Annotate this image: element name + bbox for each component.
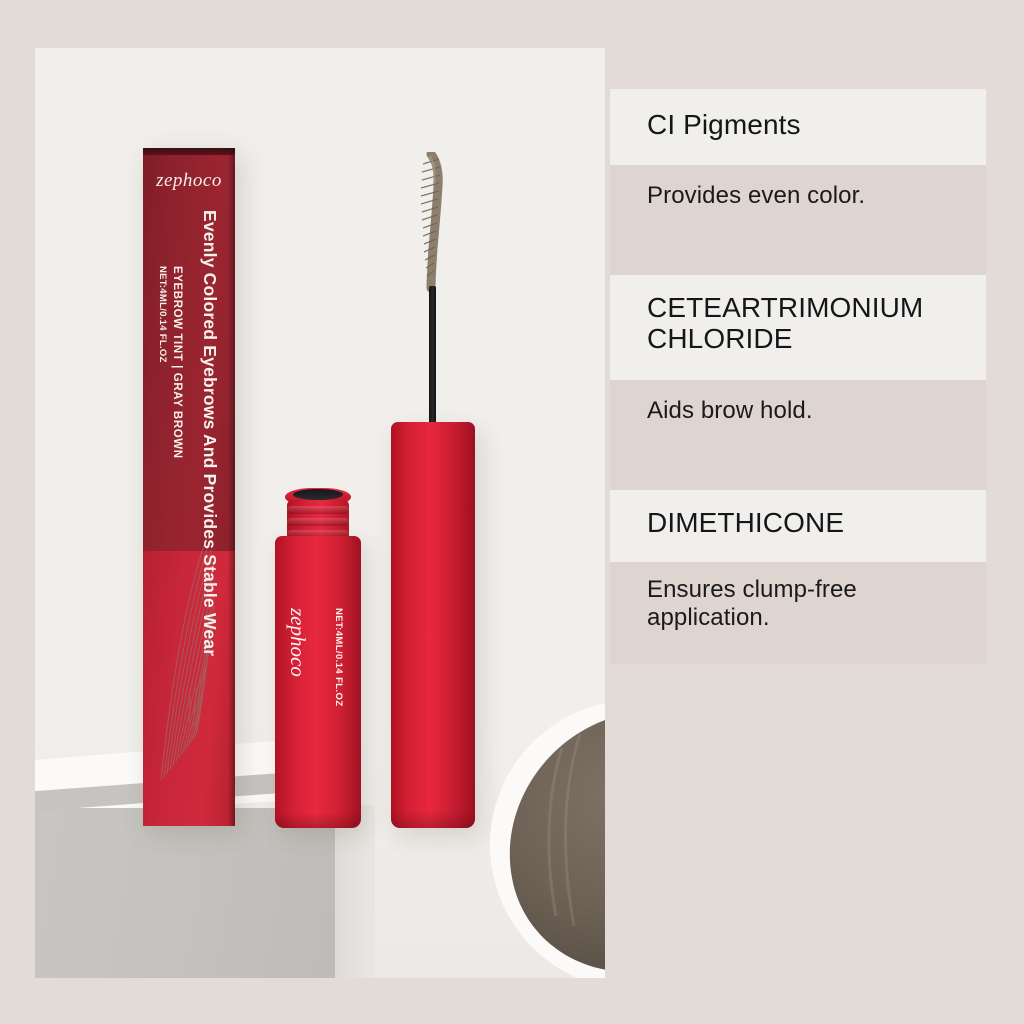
product-photo-panel: zephoco Evenly Colored Eyebrows And Prov… (35, 48, 605, 978)
spiral-brush-icon (408, 152, 454, 292)
texture-swatch (490, 700, 605, 978)
ingredient-benefit-3: Ensures clump-free application. (610, 562, 986, 633)
carton-net-content: NET:4ML/0.14 FL.OZ (157, 266, 168, 363)
ingredient-benefit-band-3: Ensures clump-free application. (610, 562, 986, 664)
product-infographic: zephoco Evenly Colored Eyebrows And Prov… (0, 0, 1024, 1024)
ingredient-benefit-1: Provides even color. (610, 165, 986, 210)
product-carton-box: zephoco Evenly Colored Eyebrows And Prov… (143, 148, 235, 826)
tube-cap (391, 422, 475, 828)
carton-top-edge (143, 148, 235, 155)
wand-stem (429, 286, 436, 426)
pedestal-front-face (35, 808, 355, 978)
ingredient-name-band-1: CI Pigments (610, 89, 986, 165)
carton-variant-label: EYEBROW TINT | GRAY BROWN (171, 266, 183, 459)
ingredient-benefit-band-1: Provides even color. (610, 165, 986, 275)
tube-thread-ring (287, 518, 349, 526)
carton-brand-logo: zephoco (149, 170, 229, 192)
tube-body (275, 536, 361, 828)
ingredient-name-band-2: CETEARTRIMONIUM CHLORIDE (610, 275, 986, 380)
tube-brand-logo: zephoco (285, 608, 310, 677)
ingredient-name-1: CI Pigments (610, 89, 986, 140)
ingredient-name-2: CETEARTRIMONIUM CHLORIDE (610, 275, 986, 355)
cream-swatch-blob (504, 712, 605, 978)
ingredient-benefit-band-2: Aids brow hold. (610, 380, 986, 490)
tube-net-content: NET:4ML/0.14 FL.OZ (333, 608, 344, 707)
ingredient-name-band-3: DIMETHICONE (610, 490, 986, 562)
tube-opening (293, 489, 343, 500)
ingredient-name-3: DIMETHICONE (610, 490, 986, 538)
tube-thread-ring (287, 506, 349, 514)
ingredient-benefit-2: Aids brow hold. (610, 380, 986, 425)
carton-tagline: Evenly Colored Eyebrows And Provides Sta… (199, 210, 220, 810)
carton-right-shadow (228, 148, 235, 826)
